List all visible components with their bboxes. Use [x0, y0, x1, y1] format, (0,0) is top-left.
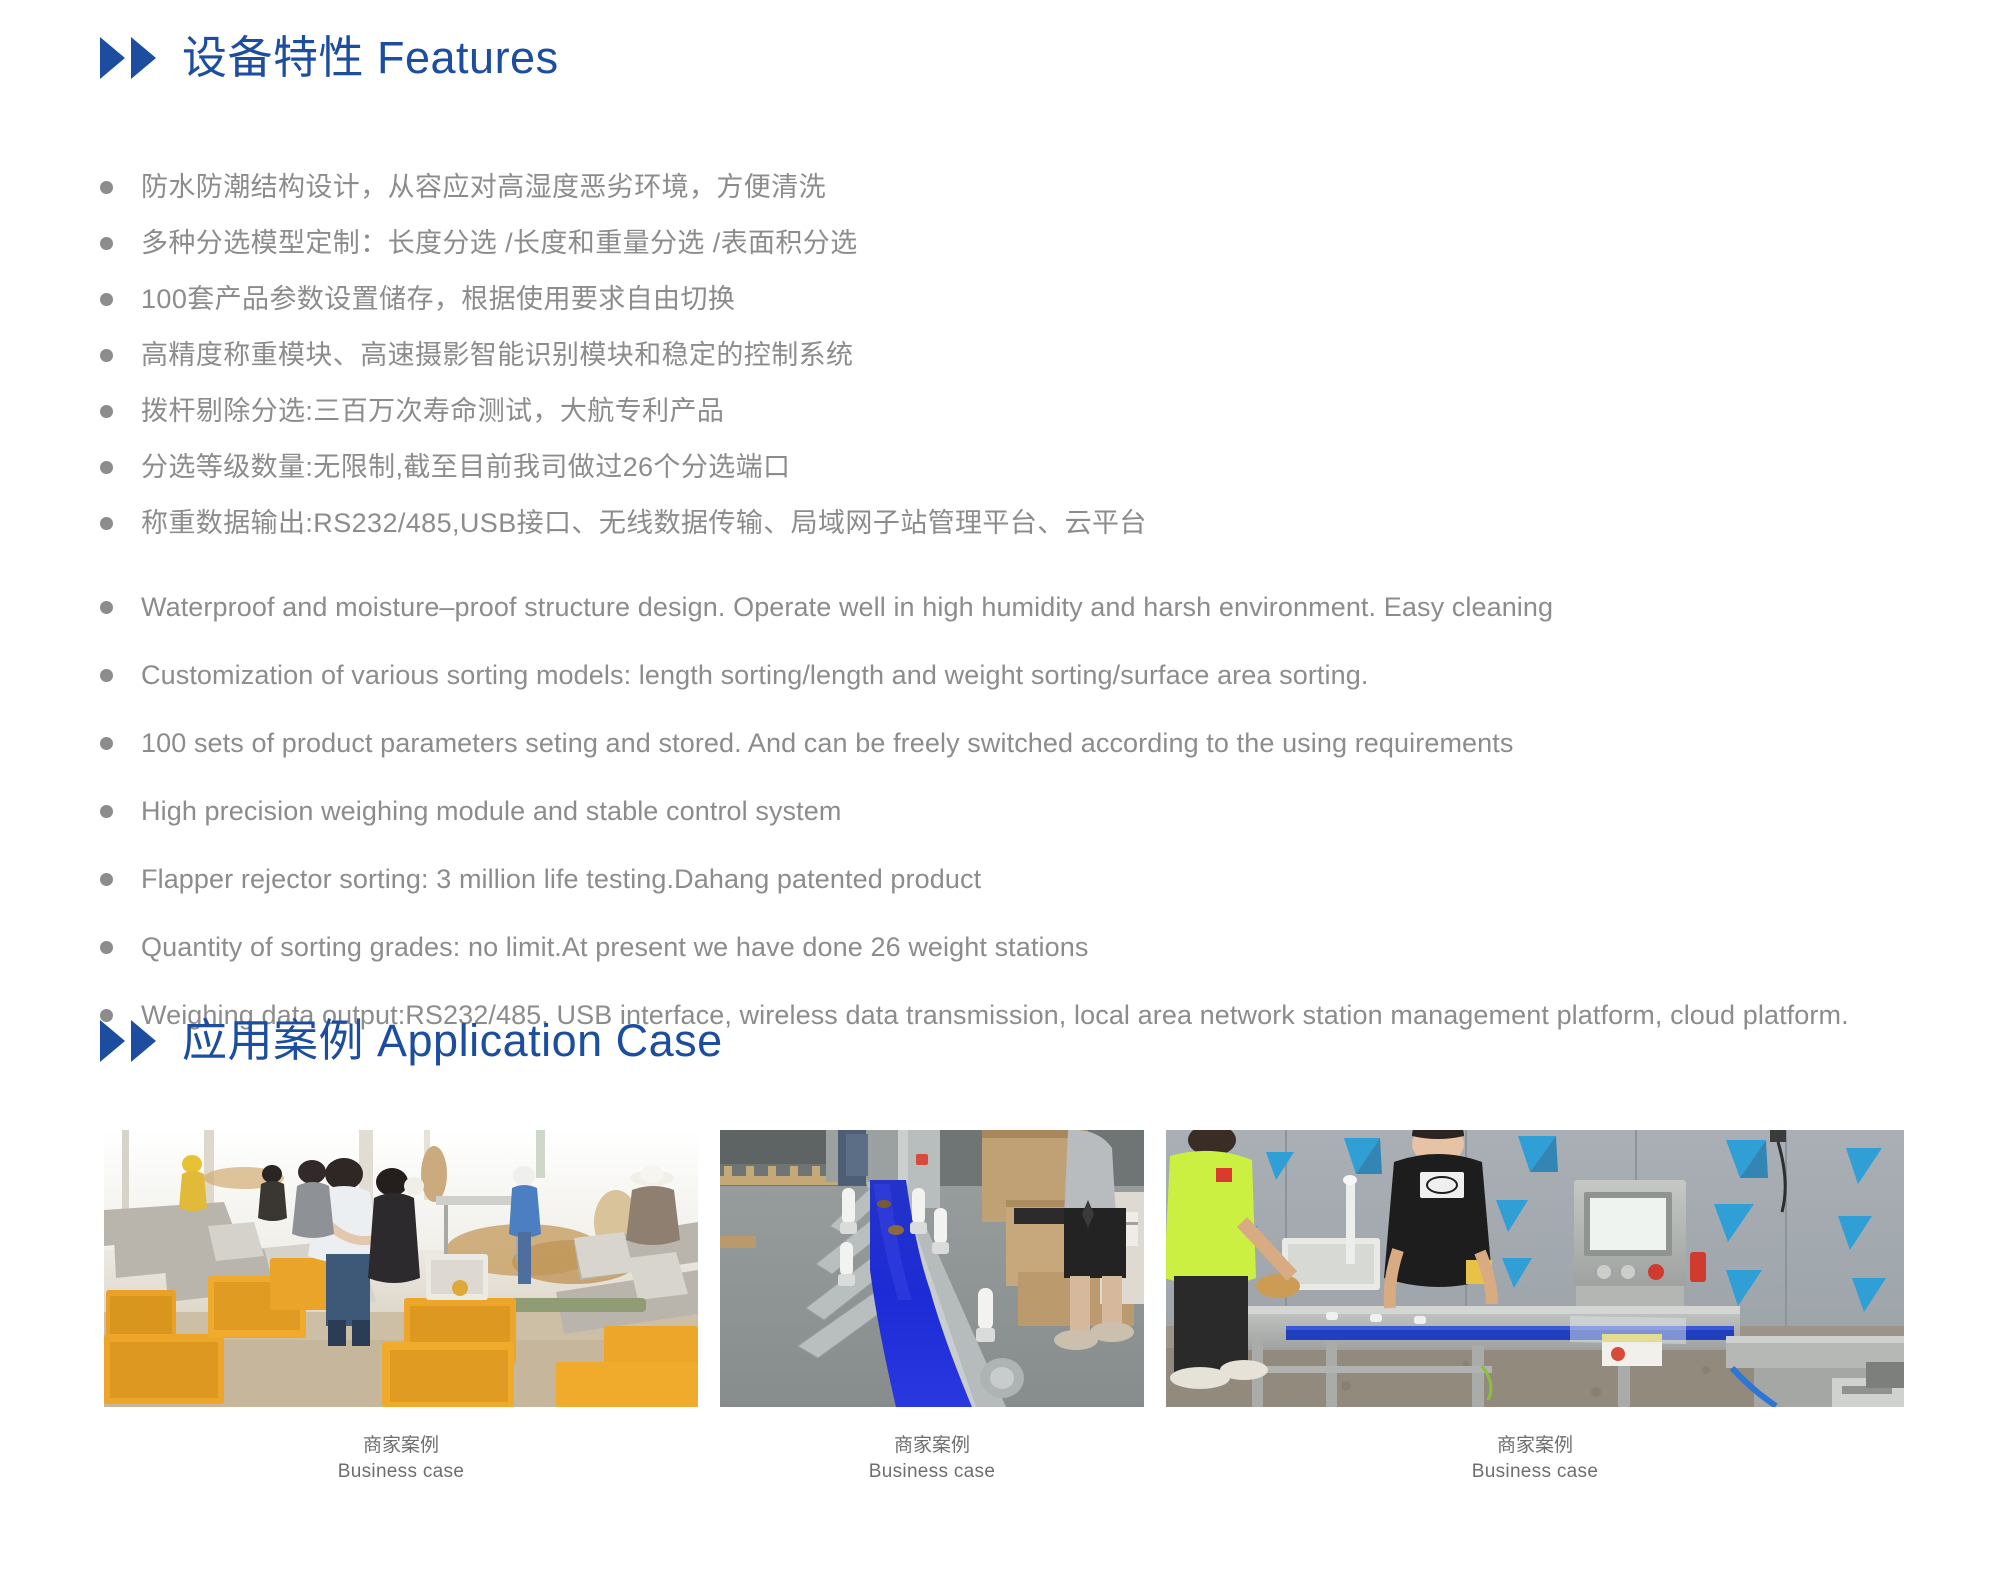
case-photo-warehouse-sorting — [104, 1130, 698, 1407]
list-item: Quantity of sorting grades: no limit.At … — [100, 920, 1900, 974]
bullet-dot-icon — [100, 873, 113, 886]
case-caption-en: Business case — [869, 1459, 995, 1485]
features-english-list: Waterproof and moisture–proof structure … — [100, 580, 1900, 1056]
bullet-dot-icon — [100, 737, 113, 750]
list-item: 拨杆剔除分选:三百万次寿命测试，大航专利产品 — [100, 392, 1400, 430]
list-item: Waterproof and moisture–proof structure … — [100, 580, 1900, 634]
application-case-title: 应用案例 Application Case — [182, 1018, 723, 1063]
list-item-label: 100套产品参数设置储存，根据使用要求自由切换 — [141, 280, 735, 318]
chevron-right-icon-2 — [131, 37, 156, 79]
chevron-right-icon-2 — [131, 1020, 156, 1062]
bullet-dot-icon — [100, 805, 113, 818]
chevron-right-icon-1 — [100, 1020, 125, 1062]
list-item-label: Quantity of sorting grades: no limit.At … — [141, 920, 1088, 974]
bullet-dot-icon — [100, 517, 113, 530]
bullet-dot-icon — [100, 669, 113, 682]
list-item-label: 100 sets of product parameters seting an… — [141, 716, 1513, 770]
case-item: 商家案例 Business case — [104, 1130, 698, 1485]
features-title: 设备特性 Features — [182, 35, 559, 80]
list-item-label: 防水防潮结构设计，从容应对高湿度恶劣环境，方便清洗 — [141, 168, 826, 206]
bullet-dot-icon — [100, 601, 113, 614]
case-item: 商家案例 Business case — [720, 1130, 1144, 1485]
bullet-dot-icon — [100, 941, 113, 954]
list-item-label: Customization of various sorting models:… — [141, 648, 1368, 702]
list-item: 多种分选模型定制：长度分选 /长度和重量分选 /表面积分选 — [100, 224, 1400, 262]
list-item-label: High precision weighing module and stabl… — [141, 784, 841, 838]
case-caption-cn: 商家案例 — [869, 1433, 995, 1459]
list-item-label: Waterproof and moisture–proof structure … — [141, 580, 1553, 634]
bullet-dot-icon — [100, 293, 113, 306]
list-item: Flapper rejector sorting: 3 million life… — [100, 852, 1900, 906]
list-item: 分选等级数量:无限制,截至目前我司做过26个分选端口 — [100, 448, 1400, 486]
case-caption: 商家案例 Business case — [338, 1433, 464, 1485]
application-case-gallery: 商家案例 Business case — [104, 1130, 1904, 1485]
list-item: 100 sets of product parameters seting an… — [100, 716, 1900, 770]
bullet-dot-icon — [100, 405, 113, 418]
double-chevron-right-icon — [100, 37, 156, 79]
bullet-dot-icon — [100, 237, 113, 250]
bullet-dot-icon — [100, 461, 113, 474]
list-item: 称重数据输出:RS232/485,USB接口、无线数据传输、局域网子站管理平台、… — [100, 504, 1400, 542]
chevron-right-icon-1 — [100, 37, 125, 79]
list-item: Customization of various sorting models:… — [100, 648, 1900, 702]
case-item: 商家案例 Business case — [1166, 1130, 1904, 1485]
list-item: 防水防潮结构设计，从容应对高湿度恶劣环境，方便清洗 — [100, 168, 1400, 206]
list-item: 高精度称重模块、高速摄影智能识别模块和稳定的控制系统 — [100, 336, 1400, 374]
case-caption-en: Business case — [1472, 1459, 1598, 1485]
list-item: High precision weighing module and stabl… — [100, 784, 1900, 838]
list-item-label: 分选等级数量:无限制,截至目前我司做过26个分选端口 — [141, 448, 790, 486]
list-item-label: 多种分选模型定制：长度分选 /长度和重量分选 /表面积分选 — [141, 224, 858, 262]
features-chinese-list: 防水防潮结构设计，从容应对高湿度恶劣环境，方便清洗 多种分选模型定制：长度分选 … — [100, 168, 1400, 560]
case-photo-weight-sorting-line — [1166, 1130, 1904, 1407]
bullet-dot-icon — [100, 181, 113, 194]
list-item-label: 拨杆剔除分选:三百万次寿命测试，大航专利产品 — [141, 392, 724, 430]
case-caption-cn: 商家案例 — [338, 1433, 464, 1459]
application-case-section-heading: 应用案例 Application Case — [96, 1018, 723, 1063]
list-item-label: Flapper rejector sorting: 3 million life… — [141, 852, 981, 906]
list-item: 100套产品参数设置储存，根据使用要求自由切换 — [100, 280, 1400, 318]
case-caption: 商家案例 Business case — [869, 1433, 995, 1485]
case-caption-cn: 商家案例 — [1472, 1433, 1598, 1459]
list-item-label: 高精度称重模块、高速摄影智能识别模块和稳定的控制系统 — [141, 336, 853, 374]
bullet-dot-icon — [100, 349, 113, 362]
case-caption: 商家案例 Business case — [1472, 1433, 1598, 1485]
case-caption-en: Business case — [338, 1459, 464, 1485]
list-item-label: 称重数据输出:RS232/485,USB接口、无线数据传输、局域网子站管理平台、… — [141, 504, 1147, 542]
features-section-heading: 设备特性 Features — [96, 35, 559, 80]
double-chevron-right-icon — [100, 1020, 156, 1062]
case-photo-blue-conveyor — [720, 1130, 1144, 1407]
